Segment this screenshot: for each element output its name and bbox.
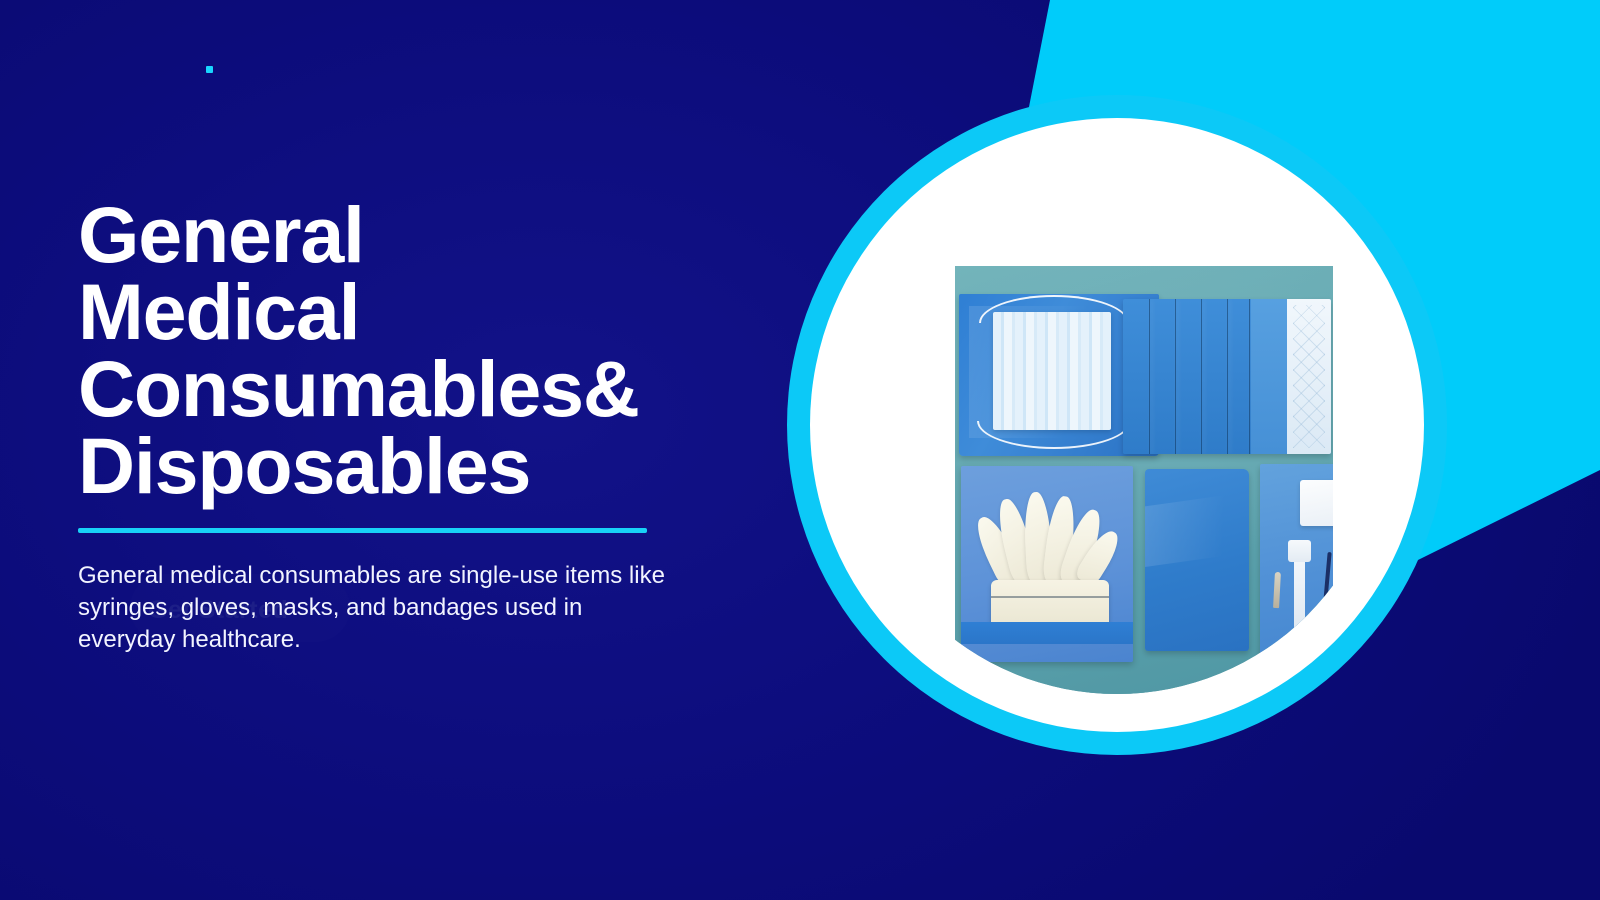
blue-surgical-sheet [1145,469,1249,651]
light-blue-drape [1251,299,1289,454]
forceps [1322,552,1333,636]
headline-line-3: Consumables& [78,350,778,427]
headline-line-2: Medical [78,273,778,350]
folded-drapes-strip [1123,299,1331,454]
headline-line-4: Disposables [78,427,778,504]
white-quilted-drape [1287,299,1331,454]
scalpel-blade [1273,572,1281,608]
panel-band [961,622,1133,644]
page-title: General Medical Consumables& Disposables [78,196,778,504]
photo-circle-mask [848,156,1386,694]
hero-slide: General Medical Consumables& Disposables… [0,0,1600,900]
accent-divider [78,528,647,533]
instrument-panel [1260,464,1333,664]
gloves-panel [961,466,1133,662]
spatula [1294,556,1305,632]
headline-line-1: General [78,196,778,273]
product-circle [787,95,1447,755]
gauze-pad [1300,480,1333,526]
surgical-face-masks [993,312,1111,430]
description-paragraph: General medical consumables are single-u… [78,560,668,656]
text-column: General Medical Consumables& Disposables… [78,0,778,900]
medical-consumables-kit-photo [955,266,1333,694]
